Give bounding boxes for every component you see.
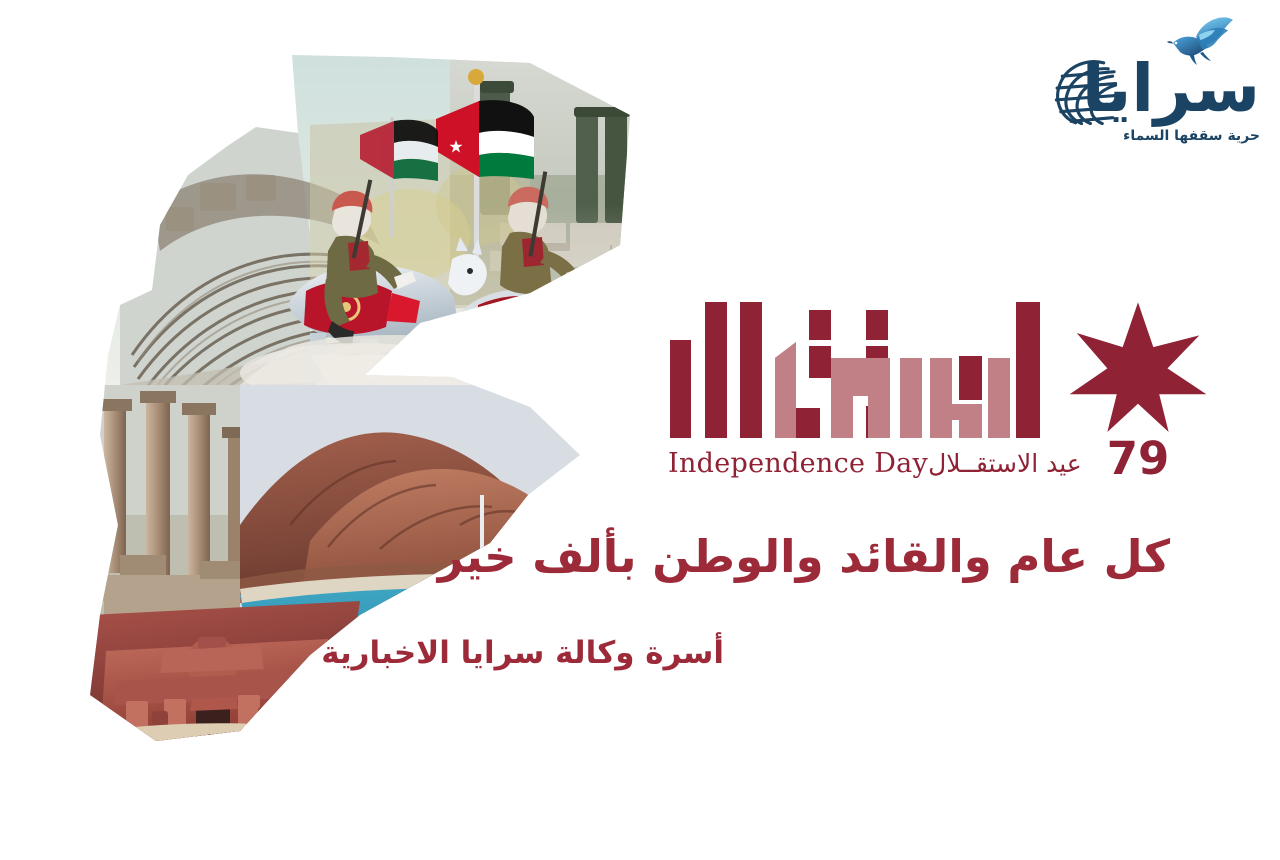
- anniversary-number: 79: [1062, 434, 1214, 484]
- independence-english-label: Independence Day: [668, 448, 928, 479]
- independence-arabic-label: عيد الاستقــلال: [928, 449, 1082, 478]
- independence-caption: Independence Day عيد الاستقــلال: [668, 448, 1068, 479]
- saraya-wordmark: سرايا: [1082, 52, 1260, 126]
- independence-wordmark-bars: [668, 300, 1058, 440]
- saraya-logo[interactable]: سرايا حرية سقفها السماء: [1040, 8, 1266, 156]
- greeting-line-2: أسرة وكالة سرايا الاخبارية: [321, 632, 724, 674]
- petra-monastery-scene: [90, 601, 360, 745]
- anniversary-badge: 79: [1062, 300, 1222, 495]
- independence-day-logo: Independence Day عيد الاستقــلال: [668, 300, 1088, 500]
- saraya-tagline: حرية سقفها السماء: [1123, 128, 1260, 144]
- greeting-line-1: كل عام والقائد والوطن بألف خير: [438, 528, 1170, 586]
- seven-pointed-star-icon: [1062, 300, 1214, 432]
- poster-canvas: سرايا حرية سقفها السماء: [0, 0, 1280, 860]
